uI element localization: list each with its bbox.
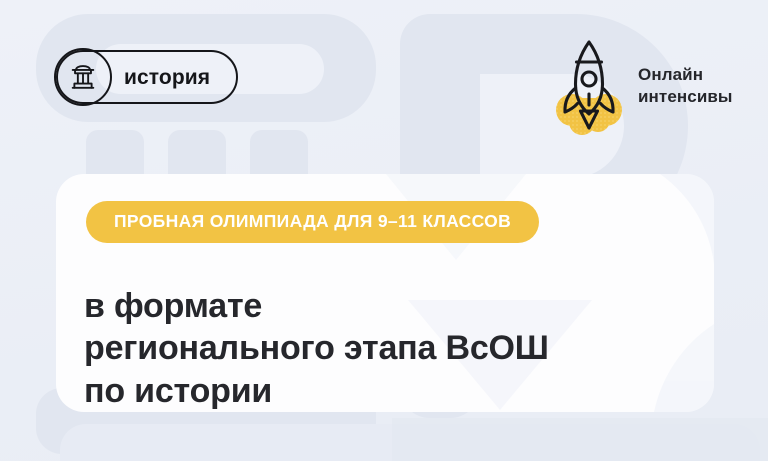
heading-line-1: в формате bbox=[84, 285, 702, 328]
subject-badge-label: история bbox=[124, 67, 210, 88]
page-title: в формате регионального этапа ВсОШ по ис… bbox=[84, 285, 702, 412]
audience-tag-label: ПРОБНАЯ ОЛИМПИАДА ДЛЯ 9–11 КЛАССОВ bbox=[114, 213, 511, 231]
audience-tag-badge: ПРОБНАЯ ОЛИМПИАДА ДЛЯ 9–11 КЛАССОВ bbox=[86, 201, 539, 243]
brand-logo[interactable]: Онлайн интенсивы bbox=[552, 36, 733, 136]
brand-line-1: Онлайн bbox=[638, 65, 703, 84]
brand-line-2: интенсивы bbox=[638, 87, 733, 106]
hero-card: ПРОБНАЯ ОЛИМПИАДА ДЛЯ 9–11 КЛАССОВ в фор… bbox=[56, 174, 714, 412]
subject-badge[interactable]: история bbox=[56, 50, 238, 104]
brand-name: Онлайн интенсивы bbox=[638, 64, 733, 108]
heading-line-2: регионального этапа ВсОШ bbox=[84, 327, 702, 370]
rocket-icon bbox=[552, 36, 626, 136]
promo-banner: история bbox=[0, 0, 768, 461]
heading-line-3: по истории bbox=[84, 370, 702, 412]
column-pillar-icon bbox=[56, 50, 110, 104]
